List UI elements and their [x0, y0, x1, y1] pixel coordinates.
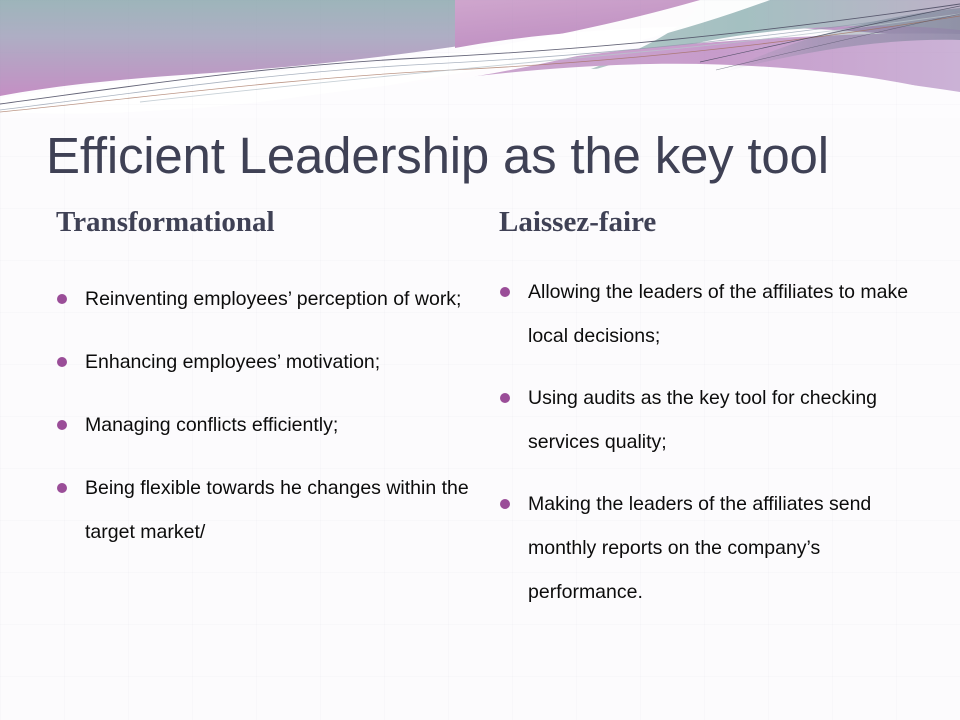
list-item: Being flexible towards he changes within… [52, 466, 477, 554]
list-item-text: Managing conflicts efficiently; [85, 414, 338, 436]
column-transformational: Transformational Reinventing employees’ … [52, 205, 477, 573]
list-item-text: Enhancing employees’ motivation; [85, 351, 380, 373]
list-item-text: Allowing the leaders of the affiliates t… [528, 281, 908, 347]
bullet-dot-icon [500, 287, 510, 297]
slide: Efficient Leadership as the key tool Tra… [0, 0, 960, 720]
list-item-text: Using audits as the key tool for checkin… [528, 387, 877, 453]
list-item: Allowing the leaders of the affiliates t… [495, 270, 935, 358]
bullet-dot-icon [500, 393, 510, 403]
bullet-dot-icon [500, 499, 510, 509]
column-laissez-faire: Laissez-faire Allowing the leaders of th… [495, 205, 935, 632]
bullet-dot-icon [57, 420, 67, 430]
list-item: Managing conflicts efficiently; [52, 403, 477, 447]
bullet-dot-icon [57, 294, 67, 304]
bullet-list-transformational: Reinventing employees’ perception of wor… [52, 277, 477, 554]
list-item: Using audits as the key tool for checkin… [495, 376, 935, 464]
bullet-dot-icon [57, 483, 67, 493]
column-heading-transformational: Transformational [56, 205, 477, 239]
list-item-text: Being flexible towards he changes within… [85, 477, 469, 543]
column-heading-laissez-faire: Laissez-faire [499, 205, 935, 239]
bullet-dot-icon [57, 357, 67, 367]
list-item-text: Reinventing employees’ perception of wor… [85, 288, 461, 310]
page-title: Efficient Leadership as the key tool [46, 126, 926, 186]
wave-ribbon-header [0, 0, 960, 118]
list-item: Enhancing employees’ motivation; [52, 340, 477, 384]
bullet-list-laissez-faire: Allowing the leaders of the affiliates t… [495, 270, 935, 614]
list-item: Making the leaders of the affiliates sen… [495, 482, 935, 614]
list-item-text: Making the leaders of the affiliates sen… [528, 493, 871, 603]
list-item: Reinventing employees’ perception of wor… [52, 277, 477, 321]
